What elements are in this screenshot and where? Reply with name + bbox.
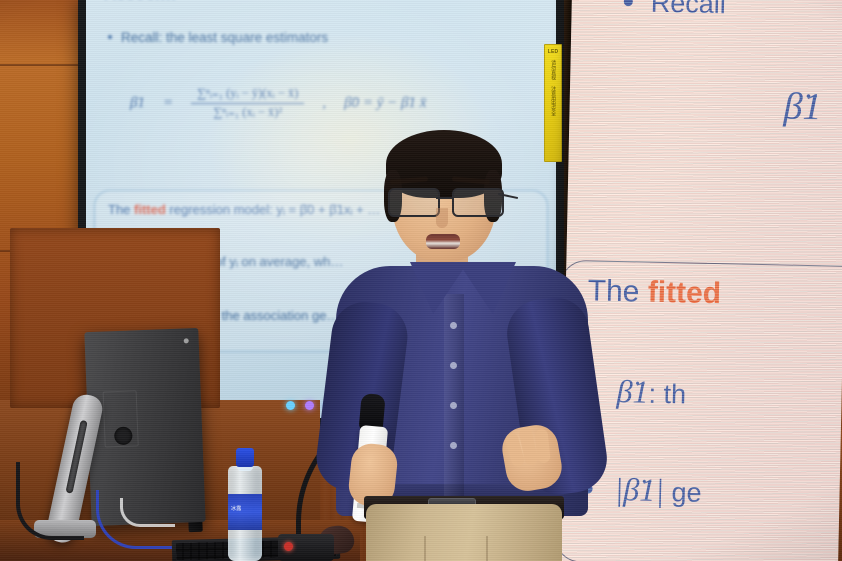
slide-formula-row: β̈1 = ∑ⁿᵢ₌₁ (yᵢ − ȳ)(xᵢ − x̄) ∑ⁿᵢ₌₁ (xᵢ … <box>130 86 550 121</box>
lens-right <box>452 188 504 217</box>
shirt-button <box>450 402 457 409</box>
monitor-power-led-icon <box>184 338 189 343</box>
bottle-cap <box>236 448 254 467</box>
presenter <box>318 126 606 561</box>
led-sign-label: LED <box>548 49 559 55</box>
led-sign-notice: 请勿直视 注意用电安全 <box>550 60 556 116</box>
led-blue-icon <box>286 401 295 410</box>
formula-beta0: β̈0 = ȳ − β̈1 x̄ <box>344 95 426 112</box>
bottle-label-text: 冰露 <box>231 505 242 512</box>
formula-separator: , <box>322 95 326 112</box>
slide-bullet-recall: Recall: the least square estimators <box>108 30 328 45</box>
formula-denominator: ∑ⁿᵢ₌₁ (xᵢ − x̄)² <box>207 104 288 121</box>
glasses-bridge <box>436 197 452 199</box>
formula-beta1-fraction: ∑ⁿᵢ₌₁ (yᵢ − ȳ)(xᵢ − x̄) ∑ⁿᵢ₌₁ (xᵢ − x̄)² <box>191 86 304 121</box>
finger <box>534 428 550 463</box>
shirt-button <box>450 442 457 449</box>
white-cable <box>120 498 175 527</box>
trouser-crease <box>486 536 488 561</box>
slide-heading: Associ… <box>104 0 177 4</box>
bullet-dot-icon <box>108 35 112 39</box>
trouser-crease <box>424 536 426 561</box>
formula-beta1-lhs: β̈1 <box>130 95 145 112</box>
lens-left <box>388 188 440 217</box>
led-purple-icon <box>305 401 314 410</box>
shirt-button <box>450 322 457 329</box>
mouth-speaking <box>426 234 460 249</box>
formula-numerator: ∑ⁿᵢ₌₁ (yᵢ − ȳ)(xᵢ − x̄) <box>191 86 304 103</box>
mic-active-led-icon <box>284 542 293 551</box>
lecture-photo-scene: Associ… Recall: the least square estimat… <box>0 0 842 561</box>
nose <box>436 208 448 228</box>
fitted-keyword: fitted <box>134 202 166 217</box>
presenter-trousers <box>366 504 562 561</box>
fitted-prefix: The <box>108 202 134 217</box>
formula-beta1-equals: = <box>163 95 173 112</box>
bottle-label: 冰露 <box>228 494 262 530</box>
slide-bullet-recall-text: Recall: the least square estimators <box>121 30 328 45</box>
black-power-cable <box>16 462 84 540</box>
shirt-button <box>450 362 457 369</box>
water-bottle: 冰露 <box>228 448 262 561</box>
